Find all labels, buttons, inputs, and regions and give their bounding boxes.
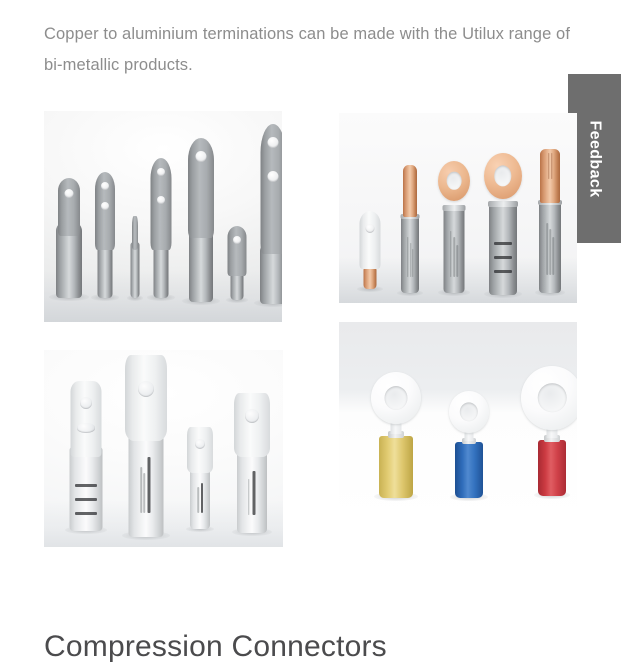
compression-lug-item xyxy=(66,389,106,531)
sleeve-yellow xyxy=(379,436,413,498)
compression-lug-item xyxy=(122,357,170,537)
compression-lug-item xyxy=(232,393,272,533)
section-heading-compression-connectors: Compression Connectors xyxy=(44,630,387,664)
ring-terminal-item xyxy=(519,348,577,496)
bimetallic-lug-item xyxy=(357,209,383,289)
sleeve-blue xyxy=(455,442,483,498)
lug-item xyxy=(184,137,218,302)
lug-item xyxy=(52,180,86,298)
compression-lugs-scene xyxy=(44,350,283,547)
bimetallic-lug-item xyxy=(535,143,565,293)
aluminium-lugs-scene xyxy=(44,111,282,322)
product-image-white-compression-lugs[interactable] xyxy=(44,350,283,547)
sleeve-red xyxy=(538,440,566,496)
bimetallic-lugs-scene xyxy=(339,113,577,303)
compression-lug-item xyxy=(186,429,214,529)
product-image-insulated-ring-terminals[interactable] xyxy=(339,322,577,520)
bimetallic-lug-item xyxy=(437,145,471,293)
bimetallic-lug-item xyxy=(397,165,423,293)
ring-terminal-item xyxy=(369,358,423,498)
ring-terminal-item xyxy=(447,380,491,498)
product-image-gallery xyxy=(0,0,621,600)
bimetallic-lug-item xyxy=(483,135,523,295)
product-image-bi-metallic-lugs[interactable] xyxy=(339,113,577,303)
ring-terminals-scene xyxy=(339,322,577,520)
lug-item xyxy=(128,218,142,298)
lug-item xyxy=(226,222,248,300)
lug-item xyxy=(148,158,174,298)
product-image-aluminium-compression-lugs[interactable] xyxy=(44,111,282,322)
lug-item xyxy=(256,122,282,304)
lug-item xyxy=(92,173,118,298)
